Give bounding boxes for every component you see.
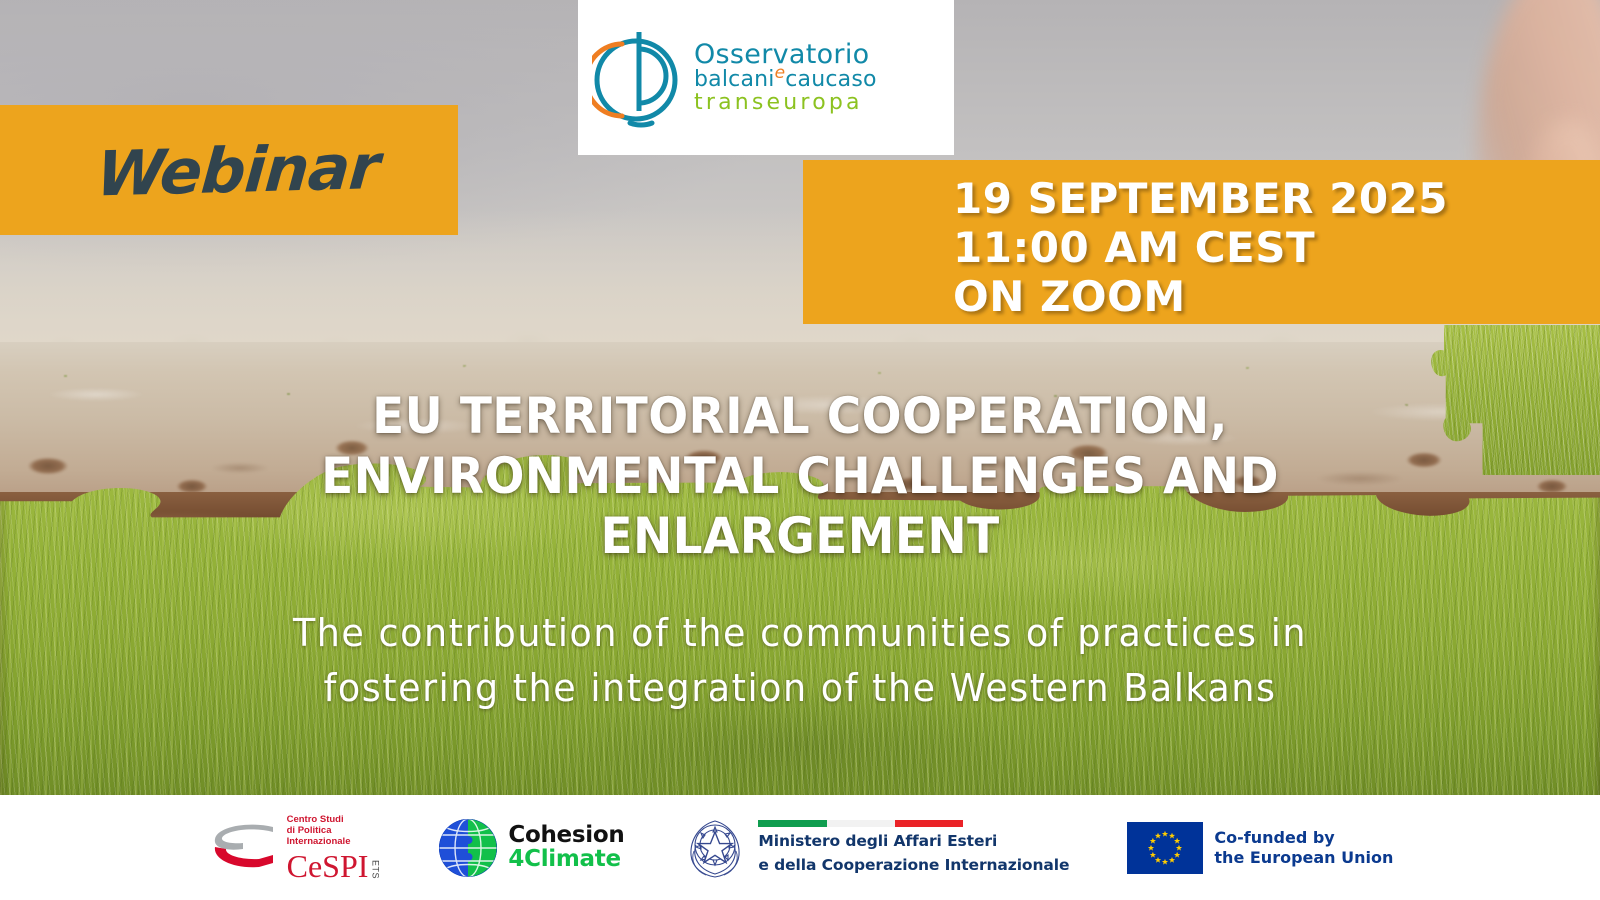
cespi-wordmark: Centro Studi di Politica Internazionale … (287, 814, 380, 882)
logo-line-balcani-caucaso: balcaniecaucaso (694, 69, 877, 91)
italian-tricolour-bar (758, 820, 963, 827)
event-details-block: 19 SEPTEMBER 2025 11:00 AM CEST ON ZOOM (803, 160, 1600, 324)
webinar-label: Webinar (76, 130, 382, 211)
c4c-line-1: Cohesion (508, 824, 624, 847)
c4c-line-2: 4Climate (508, 848, 624, 871)
logo-cohesion4climate: Cohesion 4Climate (437, 817, 624, 879)
eu-flag-icon (1127, 822, 1203, 874)
event-date: 19 SEPTEMBER 2025 (953, 174, 1600, 223)
cespi-sub-line-3: Internazionale (287, 836, 380, 847)
tricolour-green (758, 820, 826, 827)
eu-line-1: Co-funded by (1214, 828, 1393, 847)
globe-puzzle-icon (437, 817, 499, 879)
maeci-line-1: Ministero degli Affari Esteri (758, 832, 1069, 851)
obct-circle-logo-icon (592, 27, 684, 129)
italian-republic-emblem-icon (682, 815, 748, 881)
page-title: EU TERRITORIAL COOPERATION, ENVIRONMENTA… (236, 386, 1364, 566)
maeci-line-2: e della Cooperazione Internazionale (758, 856, 1069, 875)
page-subtitle: The contribution of the communities of p… (205, 606, 1395, 716)
subtitle-line-2: fostering the integration of the Western… (205, 661, 1395, 716)
cespi-name: CeSPIETS (287, 850, 380, 882)
webinar-badge: Webinar (0, 105, 458, 235)
organization-logo-box: Osservatorio balcaniecaucaso transeuropa (578, 0, 954, 155)
cespi-ribbon-icon (207, 819, 279, 877)
logo-e: e (775, 63, 786, 83)
obct-wordmark: Osservatorio balcaniecaucaso transeuropa (694, 41, 877, 114)
event-time: 11:00 AM CEST (953, 223, 1600, 272)
maeci-wordmark: Ministero degli Affari Esteri e della Co… (758, 820, 1069, 875)
cespi-ets-suffix: ETS (370, 860, 379, 879)
event-platform: ON ZOOM (953, 272, 1600, 321)
eu-funding-statement: Co-funded by the European Union (1214, 828, 1393, 866)
cespi-sub-line-2: di Politica (287, 825, 380, 836)
logo-maeci: Ministero degli Affari Esteri e della Co… (682, 815, 1069, 881)
headline-line-2: ENVIRONMENTAL CHALLENGES AND (236, 446, 1364, 506)
logo-line-osservatorio: Osservatorio (694, 41, 877, 68)
eu-line-2: the European Union (1214, 848, 1393, 867)
subtitle-line-1: The contribution of the communities of p… (205, 606, 1395, 661)
webinar-poster: Webinar 19 SEPTEMBER 2025 11:00 AM CEST … (0, 0, 1600, 900)
logo-caucaso: caucaso (785, 67, 876, 92)
headline-line-3: ENLARGEMENT (236, 506, 1364, 566)
logo-cespi: Centro Studi di Politica Internazionale … (207, 814, 380, 882)
cespi-sub-line-1: Centro Studi (287, 814, 380, 825)
tricolour-white (827, 820, 895, 827)
logo-line-transeuropa: transeuropa (694, 92, 877, 114)
tricolour-red (895, 820, 963, 827)
logo-balcani: balcani (694, 67, 775, 92)
headline-line-1: EU TERRITORIAL COOPERATION, (236, 386, 1364, 446)
sponsor-footer: Centro Studi di Politica Internazionale … (0, 795, 1600, 900)
logo-european-union: Co-funded by the European Union (1127, 822, 1393, 874)
c4c-wordmark: Cohesion 4Climate (508, 824, 624, 871)
